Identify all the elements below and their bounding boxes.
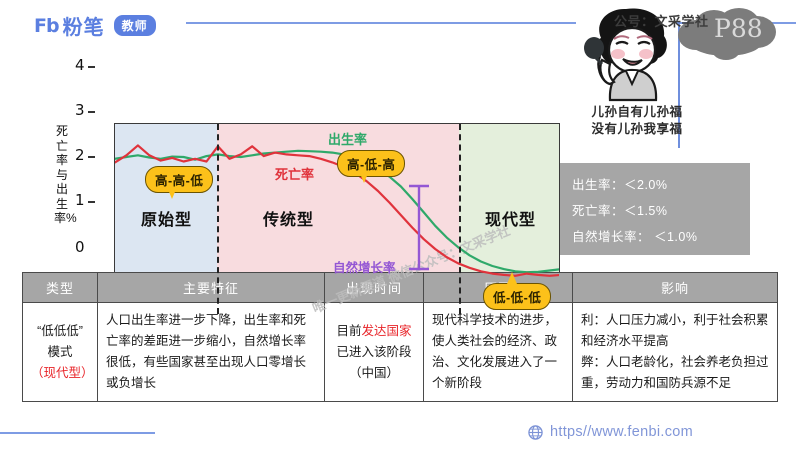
page-number-label: P88 xyxy=(714,14,763,43)
fenbi-mark-icon: Fb xyxy=(34,15,59,37)
gzh-watermark-text: 公号：文采学社 xyxy=(614,11,709,30)
cell-time: 目前发达国家已进入该阶段（中国） xyxy=(325,303,424,402)
globe-icon xyxy=(528,425,543,440)
callout-modern-tail xyxy=(507,272,517,284)
brand-name: 粉笔 xyxy=(63,11,105,40)
annotation-natural-growth: 自然增长率 xyxy=(333,257,396,276)
chart-y-axis-label: 死亡率与出生率% xyxy=(54,124,70,226)
cell-reason: 现代科学技术的进步，使人类社会的经济、政治、文化发展进入了一个新阶段 xyxy=(424,303,573,402)
ytick-3: 3 xyxy=(75,101,85,119)
cell-time-suffix: 已进入该阶段（中国） xyxy=(336,345,411,380)
cell-type-line2: 模式 xyxy=(31,342,89,363)
footer-bar: https//www.fenbi.com xyxy=(0,416,800,450)
series-label-death-rate: 死亡率 xyxy=(275,164,314,183)
table-row: “低低低” 模式 （现代型） 人口出生率进一步下降，出生率和死亡率的差距进一步缩… xyxy=(23,303,778,402)
header-divider-line xyxy=(186,22,576,24)
axis-tick-1 xyxy=(88,201,95,203)
rate-natural-growth: 自然增长率： ＜1.0% xyxy=(572,224,738,250)
ytick-4: 4 xyxy=(75,56,85,74)
axis-tick-3 xyxy=(88,111,95,113)
cartoon-caption-line2: 没有儿孙我享福 xyxy=(572,121,702,138)
cell-type-line1: “低低低” xyxy=(31,321,89,342)
callout-primitive: 高-高-低 xyxy=(145,166,213,193)
callout-traditional-tail xyxy=(359,171,369,183)
callout-primitive-tail xyxy=(167,187,177,199)
brand-badge: 教师 xyxy=(114,15,156,36)
rates-summary-box: 出生率：＜2.0% 死亡率：＜1.5% 自然增长率： ＜1.0% xyxy=(560,163,750,255)
cell-type-line3: （现代型） xyxy=(31,363,89,384)
ytick-1: 1 xyxy=(75,191,85,209)
slide-page: Fb 粉笔 教师 儿孙自有儿孙福 没有儿孙我享福 xyxy=(0,0,800,450)
axis-tick-4 xyxy=(88,66,95,68)
chart-plot-area: 唯一更新渠道 微信公众号：文采学社 出生率 死亡率 自然增长率 原始型 传统型 … xyxy=(114,123,560,315)
cell-time-highlight: 发达国家 xyxy=(362,324,412,338)
table-header-impact: 影响 xyxy=(573,273,778,303)
brand-logo: Fb 粉笔 教师 xyxy=(34,11,156,40)
cell-impact: 利：人口压力减小，利于社会积累和经济水平提高 弊：人口老龄化，社会养老负担过重，… xyxy=(573,303,778,402)
cell-time-prefix: 目前 xyxy=(336,324,361,338)
cartoon-caption: 儿孙自有儿孙福 没有儿孙我享福 xyxy=(572,104,702,138)
cell-impact-con: 弊：人口老龄化，社会养老负担过重，劳动力和国防兵源不足 xyxy=(581,352,769,394)
axis-tick-2 xyxy=(88,156,95,158)
ytick-0: 0 xyxy=(75,238,85,256)
table-header-type: 类型 xyxy=(23,273,98,303)
demographic-transition-chart: 死亡率与出生率% 4 3 2 1 0 唯一更新渠道 微信公众号：文采学社 xyxy=(20,60,545,260)
rate-death: 死亡率：＜1.5% xyxy=(572,198,738,224)
cartoon-caption-line1: 儿孙自有儿孙福 xyxy=(572,104,702,121)
callout-modern: 低-低-低 xyxy=(483,283,551,310)
callout-traditional: 高-低-高 xyxy=(337,150,405,177)
rate-birth: 出生率：＜2.0% xyxy=(572,172,738,198)
series-label-birth-rate: 出生率 xyxy=(328,129,367,148)
cell-features: 人口出生率进一步下降，出生率和死亡率的差距进一步缩小，自然增长率很低，有些国家甚… xyxy=(98,303,325,402)
ytick-2: 2 xyxy=(75,146,85,164)
footer-divider-line xyxy=(0,432,155,434)
footer-url[interactable]: https//www.fenbi.com xyxy=(550,424,693,440)
cell-type: “低低低” 模式 （现代型） xyxy=(23,303,98,402)
cell-impact-pro: 利：人口压力减小，利于社会积累和经济水平提高 xyxy=(581,310,769,352)
